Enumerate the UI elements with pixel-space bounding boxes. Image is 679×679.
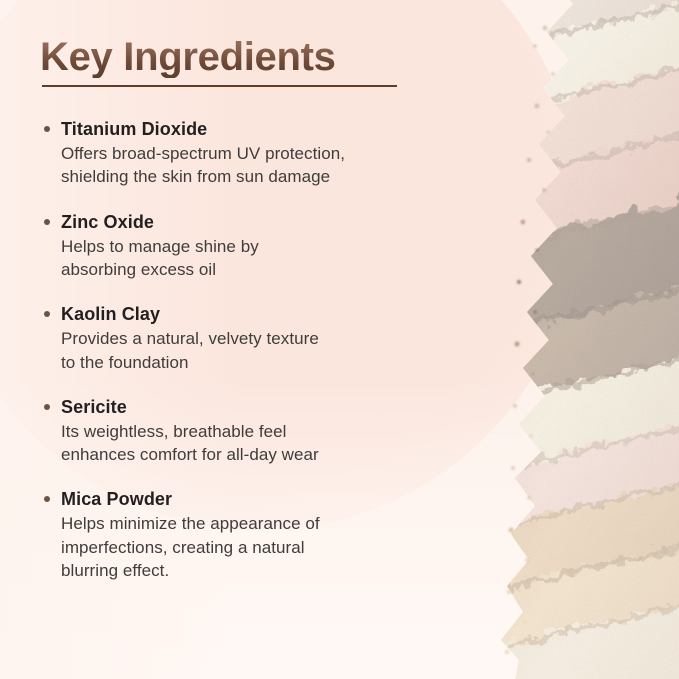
ingredient-description: Offers broad-spectrum UV protection, shi…: [61, 142, 460, 189]
content-column: Key Ingredients Titanium Dioxide Offers …: [40, 0, 460, 679]
ingredient-name: Titanium Dioxide: [61, 118, 460, 141]
ingredient-name: Sericite: [61, 396, 460, 419]
list-item: Titanium Dioxide Offers broad-spectrum U…: [40, 118, 460, 189]
ingredient-description: Helps to manage shine by absorbing exces…: [61, 235, 460, 282]
ingredient-name: Mica Powder: [61, 488, 460, 511]
bullet-icon: [44, 126, 50, 132]
ingredient-description: Helps minimize the appearance of imperfe…: [61, 512, 460, 582]
page-title: Key Ingredients: [40, 36, 336, 78]
ingredient-name: Zinc Oxide: [61, 211, 460, 234]
title-underline: [42, 85, 397, 87]
list-item: Mica Powder Helps minimize the appearanc…: [40, 488, 460, 582]
list-item: Sericite Its weightless, breathable feel…: [40, 396, 460, 467]
ingredient-name: Kaolin Clay: [61, 303, 460, 326]
cosmetic-powder-swatch: [449, 0, 679, 679]
bullet-icon: [44, 311, 50, 317]
ingredient-description: Its weightless, breathable feel enhances…: [61, 420, 460, 467]
ingredients-list: Titanium Dioxide Offers broad-spectrum U…: [40, 118, 460, 582]
list-item: Kaolin Clay Provides a natural, velvety …: [40, 303, 460, 374]
bullet-icon: [44, 219, 50, 225]
ingredient-description: Provides a natural, velvety texture to t…: [61, 327, 460, 374]
bullet-icon: [44, 404, 50, 410]
list-item: Zinc Oxide Helps to manage shine by abso…: [40, 211, 460, 282]
bullet-icon: [44, 496, 50, 502]
key-ingredients-infographic: Key Ingredients Titanium Dioxide Offers …: [0, 0, 679, 679]
